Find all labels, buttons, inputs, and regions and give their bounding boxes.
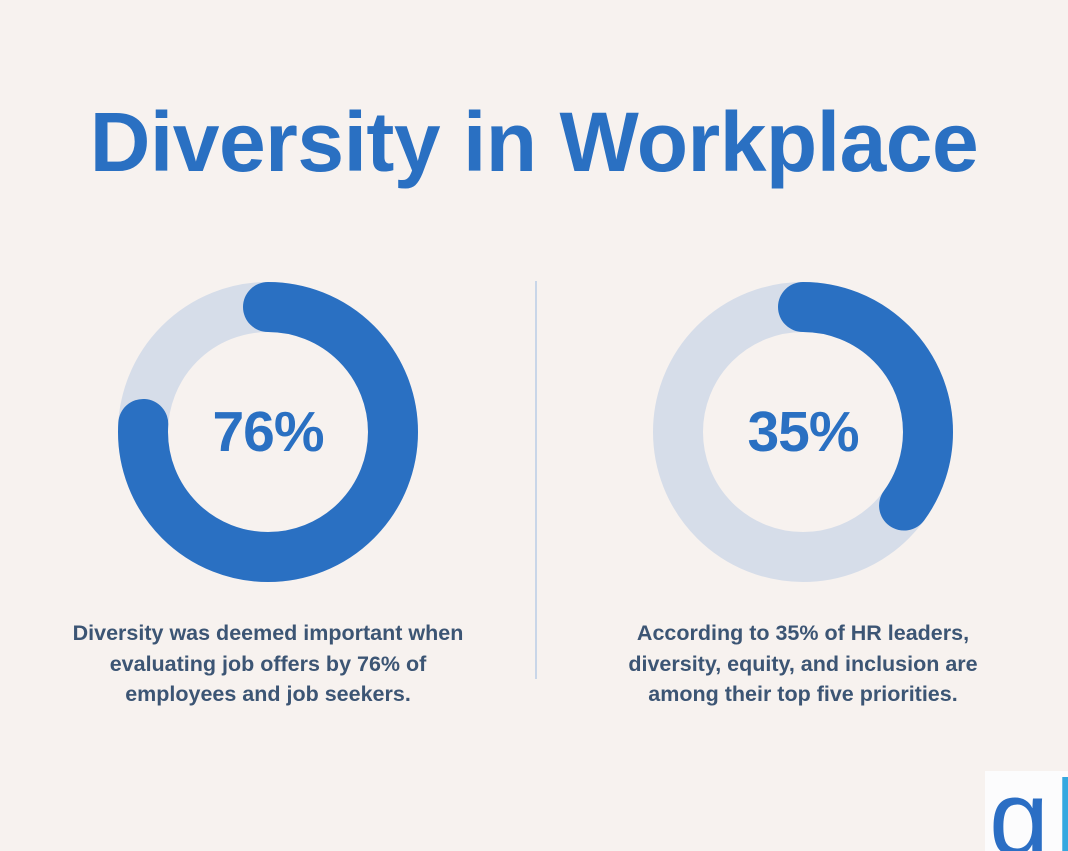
donut-svg-right <box>653 282 953 582</box>
stat-panel-hr-leaders-dei: 35% According to 35% of HR leaders, dive… <box>593 282 1013 710</box>
infographic-canvas: Diversity in Workplace 76% Diversity was… <box>0 0 1068 851</box>
stat-panel-diversity-job-offers: 76% Diversity was deemed important when … <box>58 282 478 710</box>
logo-letter-l: l <box>1055 771 1068 851</box>
logo-letter-g: g <box>989 771 1049 851</box>
brand-logo-card: g l <box>985 771 1068 851</box>
stat-caption-right: According to 35% of HR leaders, diversit… <box>593 618 1013 710</box>
stat-caption-left: Diversity was deemed important when eval… <box>58 618 478 710</box>
donut-chart-35: 35% <box>653 282 953 582</box>
donut-svg-left <box>118 282 418 582</box>
gl-logo-icon: g l <box>985 771 1068 851</box>
donut-chart-76: 76% <box>118 282 418 582</box>
vertical-divider <box>535 281 537 679</box>
page-title: Diversity in Workplace <box>0 98 1068 186</box>
